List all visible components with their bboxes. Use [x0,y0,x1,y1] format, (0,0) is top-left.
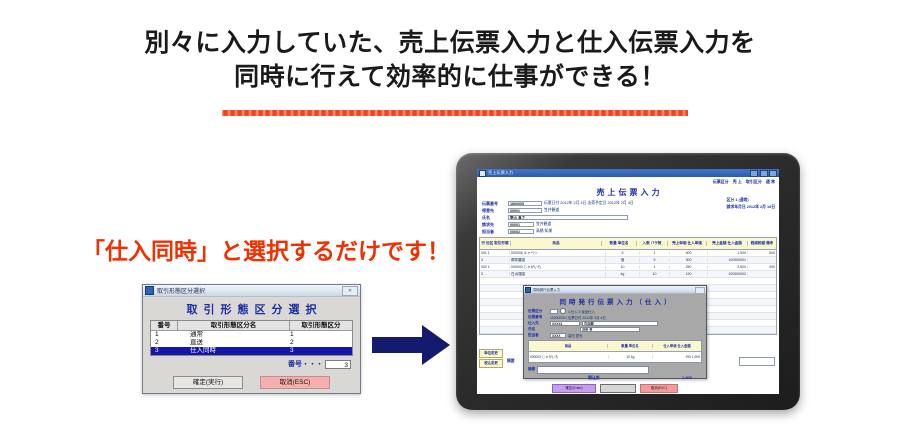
radio-icon[interactable] [560,308,566,314]
field-suffix: 笠井観道 [536,222,551,227]
cell-code: 1 [288,331,352,339]
close-icon[interactable]: ✕ [342,286,358,296]
cell-quantity: 10 [606,265,640,269]
column-header-no: 番号 [151,321,178,330]
cell-quantity: 10 kg [609,355,653,360]
table-row-selected[interactable]: 3 仕入同時 3 [151,347,352,355]
cell-unit-price: 300 [670,258,708,262]
cell-amount: 100000001 [708,258,748,262]
field-label: 伝票番号 [482,201,506,207]
field-label: 伝票番号 [528,315,548,320]
field-input[interactable]: 1800005 [508,201,542,207]
field-suffix: 1:仕入 2:返品仕入 [568,309,595,314]
table-row[interactable]: 2 直送 2 [151,339,352,347]
app-memo-label: 摘要 [507,359,515,364]
subdialog-title-text: 同時発行伝票入力 [533,287,560,292]
subdialog-titlebar[interactable]: 同時発行伝票入力 [524,286,706,294]
cell-line: 3 [480,258,510,262]
cell-unit-price: 190 1,900 [653,355,701,360]
column-header-unit-price: 仕入単価 仕入金額 [653,344,701,349]
table-row[interactable]: 3 郷秀農園 個 5 300 100000001 [480,257,776,264]
app-right-info: 区分 1 (通常) 請求年月日 2012年 2月 10日 [727,197,775,211]
sub-field-staff[interactable]: 担当者 XXXX 高田 愛也 [524,332,706,338]
subdialog-total-row: 税込計 1,900 [524,374,706,381]
app-memo-input[interactable] [739,357,775,366]
field-row-billing[interactable]: 請求先 00001 笠井観道 [477,221,779,228]
slip-type-label: 伝票区分 [713,179,729,185]
dialog-button-bar: 確定(実行) 取消(ESC) [143,376,360,389]
cell-product: 白浜運園 [510,272,606,277]
simultaneous-purchase-slip-dialog[interactable]: 同時発行伝票入力 同時発行伝票入力（仕入） 伝票区分 1:仕入 2:返品仕入 伝… [523,285,707,379]
field-row-staff[interactable]: 担当者 00002 高橋 知美 [477,228,779,235]
field-input[interactable]: XXXX [550,333,566,338]
app-titlebar-text: 売上伝票入力 [488,170,513,176]
column-header-product: 商品 [511,241,602,247]
field-suffix: 高田 愛也 [568,333,583,338]
cell-line: 002 1 [480,265,510,269]
subdialog-heading: 同時発行伝票入力（仕入） [524,294,706,308]
tablet-screen[interactable]: 売上伝票入力 伝票区分 売 上 取引区分 通 常 売上伝票入力 伝票番号 180… [477,169,779,394]
cell-no: 3 [151,347,181,355]
transaction-type-label: 取引区分 [746,179,762,185]
callout-annotation-text: 「仕入同時」と選択するだけです！ [82,232,450,266]
cell-product: 郷秀農園 [510,258,606,263]
cancel-button[interactable]: 取消(ESC) [260,376,330,389]
cell-line: 001 1 [480,251,510,255]
cell-pack: 1 [640,251,670,255]
field-label: 氏名 [528,327,548,332]
grid-header-row: 商品 数量 単位名 仕入単価 仕入金額 [529,341,701,352]
field-label: 担当者 [482,229,506,235]
right-arrow-icon [372,325,450,365]
column-header-quantity: 数量 単位名 [602,241,637,247]
field-suffix: 100000001 伝票日付 2012年 2月 4日 [550,315,606,320]
cancel-button[interactable]: 取消(ESC) [640,384,678,393]
field-row-name[interactable]: 氏名 野山 真之 [477,214,779,221]
cell-amount: 2,500 [708,265,748,269]
maximize-icon[interactable] [760,170,768,177]
column-header-name: 取引形態区分名 [178,321,290,330]
table-row[interactable]: 002 1 000040 じゃがいも 10 1 250 2,500 400 [480,264,776,271]
field-suffix: 笠井観道 [544,208,559,213]
window-controls[interactable] [750,170,777,177]
headline-line-2: 同時に行えて効率的に仕事ができる！ [0,60,900,94]
table-row-empty[interactable] [480,278,776,285]
cell-line: 3 [480,272,510,276]
app-side-button-group[interactable]: 単位変更 税込変更 [479,349,503,369]
field-input[interactable]: 00002 [508,229,534,235]
cell-pack: 1 [640,265,670,269]
app-titlebar[interactable]: 売上伝票入力 [477,169,779,177]
cell-pack: 5 [640,258,670,262]
table-row[interactable]: 3 白浜運園 kg 10 190 100000002 [480,271,776,278]
field-label: 担当者 [528,333,548,338]
field-label: 仕入先 [528,321,548,326]
unit-change-button[interactable]: 単位変更 [479,349,503,358]
cell-product: 000040 じゃがいも [510,265,606,270]
table-row[interactable]: 1 通常 1 [151,331,352,339]
right-info-line-2: 請求年月日 2012年 2月 10日 [727,204,775,211]
tax-change-button[interactable]: 税込変更 [479,359,503,368]
subdialog-memo-row[interactable]: 摘要 [524,366,706,374]
column-header-quantity: 数量 単位名 [608,344,653,349]
close-icon[interactable] [769,170,777,177]
tablet-device: 売上伝票入力 伝票区分 売 上 取引区分 通 常 売上伝票入力 伝票番号 180… [456,153,800,410]
cell-quantity: 5 [606,251,640,255]
column-header-unit-price: 売上単価 仕入単価 [668,241,707,247]
cell-name: 直送 [181,339,288,347]
cell-product: 000003 じゃがいも [529,355,609,360]
column-header-amount: 売上金額 仕入金額 [707,241,748,247]
table-row[interactable]: 000003 じゃがいも 10 kg 190 1,900 [529,352,701,362]
total-value: 1,900 [682,375,692,381]
total-label: 税込計 [588,375,600,381]
column-header-line: 行 伝区 取引形態 [480,241,511,247]
spacer-button[interactable] [600,384,636,393]
field-input-name[interactable]: 白浜園 [582,321,658,326]
app-body[interactable]: 伝票区分 売 上 取引区分 通 常 売上伝票入力 伝票番号 1800005 伝票… [477,177,779,394]
field-label: 伝票区分 [528,309,548,314]
field-input[interactable]: 野山 真之 [508,215,628,221]
field-suffix: 伝票日付 2012年 2月 4日 出荷予定日 2012年 2月 4日 [544,201,634,206]
headline-underline-accent [222,110,688,116]
cell-name: 仕入同時 [181,347,288,355]
column-header-product: 商品 [529,344,608,349]
purchase-detail-grid[interactable]: 商品 数量 単位名 仕入単価 仕入金額 000003 じゃがいも 10 kg 1… [528,340,702,363]
app-window-icon [479,170,486,177]
field-label: 得意先 [482,208,506,214]
grid-header-row: 行 伝区 取引形態 商品 数量 単位名 入数 バラ数 売上単価 仕入単価 売上金… [480,238,776,250]
confirm-button[interactable]: 確定(Enter) [552,384,596,393]
field-input[interactable]: 沢田 亨 [580,327,640,332]
cell-unit-price: 250 [670,265,708,269]
cell-name: 通常 [181,331,288,339]
table-row[interactable]: 001 1 000036 キャベツ 5 1 300 1,500 500 [480,250,776,257]
field-input[interactable]: 00001 [508,222,534,228]
cell-amount: 1,500 [708,251,748,255]
headline-block: 別々に入力していた、売上伝票入力と仕入伝票入力を 同時に行えて効率的に仕事ができ… [0,26,900,94]
subdialog-button-bar: 確定(Enter) 取消(ESC) [524,384,706,393]
cell-unit-price: 190 [670,272,708,276]
transaction-type-table[interactable]: 番号 取引形態区分名 取引形態区分 1 通常 1 2 直送 2 3 仕入同時 3 [150,320,353,356]
number-entry-row[interactable]: 番号・・・ 3 [143,359,351,369]
cell-product: 000036 キャベツ [510,251,606,256]
cell-tax: 500 [748,251,776,255]
cell-unit-price: 300 [670,251,708,255]
field-label: 氏名 [482,215,506,221]
field-label: 請求先 [482,222,506,228]
column-header-tax: 軽減税額 備考 [748,241,776,247]
app-window-icon [145,286,154,295]
field-input[interactable]: 00001 [508,208,542,214]
field-suffix: 高橋 知美 [536,229,552,234]
transaction-type-dialog[interactable]: 取引形態区分選択 ✕ 取引形態区分選択 番号 取引形態区分名 取引形態区分 1 … [142,284,361,394]
cell-no: 2 [151,339,181,347]
confirm-button[interactable]: 確定(実行) [173,376,243,389]
column-header-code: 取引形態区分 [290,321,352,330]
field-input[interactable] [550,309,558,314]
minimize-icon[interactable] [750,170,758,177]
dialog-titlebar[interactable]: 取引形態区分選択 ✕ [143,285,360,297]
cell-quantity: 個 [606,258,640,263]
table-header-row: 番号 取引形態区分名 取引形態区分 [151,321,352,331]
cell-pack: 10 [640,272,670,276]
field-input[interactable]: XXXX4 [550,321,580,326]
dialog-heading: 取引形態区分選択 [143,297,360,320]
dialog-title-text: 取引形態区分選択 [157,286,342,295]
app-top-status-row: 伝票区分 売 上 取引区分 通 常 [477,177,779,185]
column-header-pack: 入数 バラ数 [637,241,668,247]
cell-amount: 100000002 [708,272,748,276]
cell-quantity: kg [606,272,640,276]
number-label: 番号・・・ [288,359,323,369]
memo-input[interactable] [537,366,649,374]
close-icon[interactable] [695,287,705,294]
slip-type-value: 売 上 [733,179,742,185]
cell-no: 1 [151,331,181,339]
right-info-line-1: 区分 1 (通常) [727,197,775,204]
headline-line-1: 別々に入力していた、売上伝票入力と仕入伝票入力を [0,26,900,60]
transaction-type-value: 通 常 [766,179,775,185]
cell-code: 3 [288,347,352,355]
memo-label: 摘要 [528,367,535,372]
number-input[interactable]: 3 [325,360,351,369]
cell-tax: 400 [748,265,776,269]
cell-code: 2 [288,339,352,347]
app-window-icon [525,287,531,293]
